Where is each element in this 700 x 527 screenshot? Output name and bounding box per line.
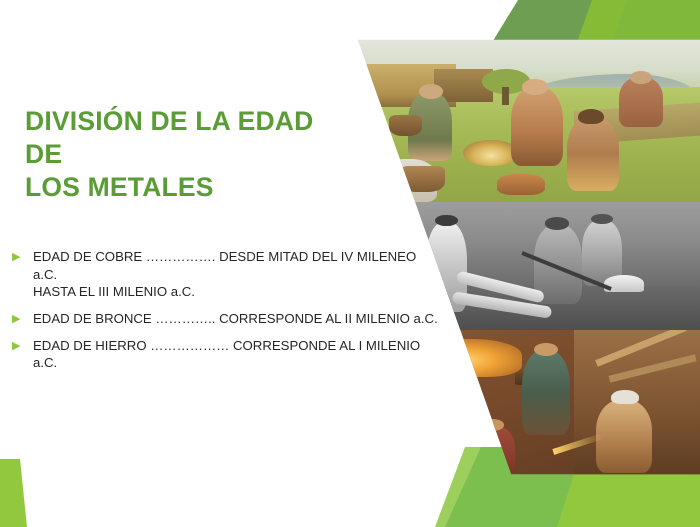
helmeted-figure-head: [611, 390, 639, 405]
figure-head: [545, 217, 569, 229]
decor-accent-green-trapezoid: [0, 459, 27, 527]
figure-head: [345, 94, 373, 110]
figure-head: [578, 109, 604, 125]
presentation-slide: DIVISIÓN DE LA EDAD DE LOS METALES ▶ EDA…: [0, 0, 700, 527]
clay-pot: [400, 166, 444, 192]
figure-head: [534, 343, 558, 356]
clay-pot: [497, 174, 545, 195]
page-title-line-2: LOS METALES: [25, 171, 335, 204]
figure-body: [619, 77, 663, 126]
bullet-list: ▶ EDAD DE COBRE ……………. DESDE MITAD DEL I…: [12, 248, 442, 381]
figure-head: [522, 79, 548, 95]
triangle-bullet-icon: ▶: [12, 248, 33, 266]
list-item: ▶ EDAD DE BRONCE ………….. CORRESPONDE AL I…: [12, 310, 442, 328]
page-title-line-1: DIVISIÓN DE LA EDAD DE: [25, 105, 335, 171]
decor-bottom-left-accent: [0, 459, 34, 527]
collage-image-copper-age: [330, 38, 700, 202]
triangle-bullet-icon: ▶: [12, 337, 33, 355]
figure-body: [596, 400, 652, 473]
clay-pot: [389, 115, 422, 136]
decor-band-bottom-pale: [435, 447, 481, 527]
figure-body: [334, 100, 386, 182]
list-item: ▶ EDAD DE COBRE ……………. DESDE MITAD DEL I…: [12, 248, 442, 301]
list-item-label: EDAD DE BRONCE ………….. CORRESPONDE AL II …: [33, 310, 442, 328]
figure-body: [522, 350, 570, 435]
figure-head: [419, 84, 443, 99]
bottom-left-decor-svg: [0, 459, 34, 527]
copper-age-illustration: [330, 38, 700, 202]
figure-head: [630, 71, 652, 84]
tree-trunk: [502, 87, 509, 105]
figure-body: [567, 117, 619, 191]
list-item-label: EDAD DE HIERRO ……………… CORRESPONDE AL I M…: [33, 337, 442, 372]
list-item: ▶ EDAD DE HIERRO ……………… CORRESPONDE AL I…: [12, 337, 442, 372]
figure-head: [435, 215, 457, 227]
triangle-bullet-icon: ▶: [12, 310, 33, 328]
page-title: DIVISIÓN DE LA EDAD DE LOS METALES: [25, 105, 335, 204]
figure-body: [511, 87, 563, 166]
figure-head: [482, 419, 504, 431]
list-item-label: EDAD DE COBRE ……………. DESDE MITAD DEL IV …: [33, 248, 442, 301]
figure-body: [423, 368, 471, 459]
figure-body: [471, 426, 515, 476]
